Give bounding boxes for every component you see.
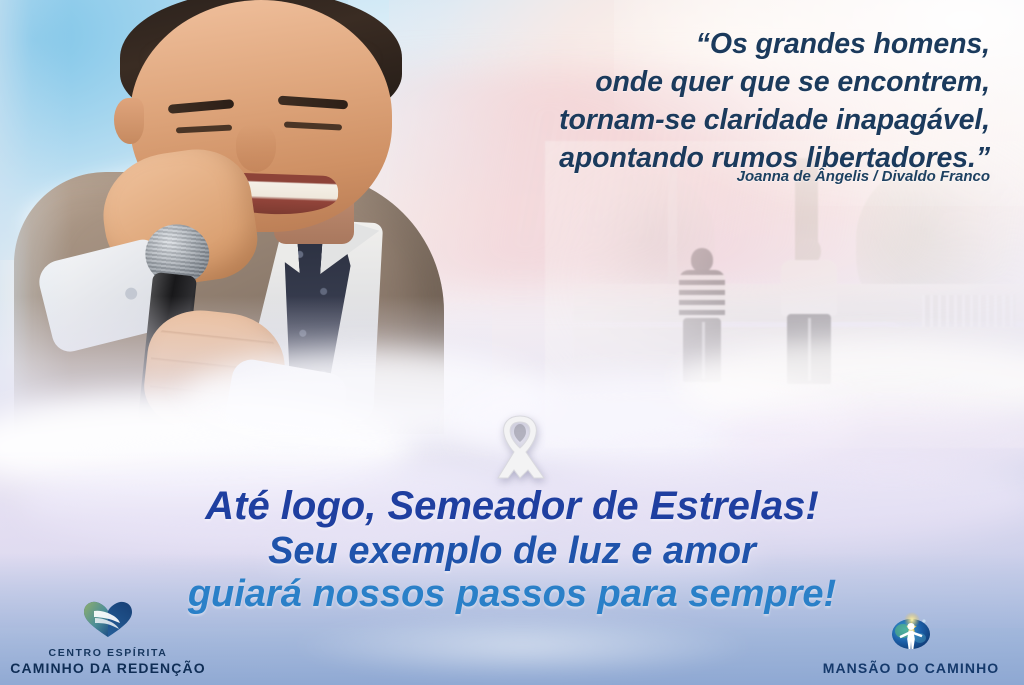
globe-figure-logo-icon	[806, 610, 1016, 657]
white-awareness-ribbon-icon	[484, 408, 556, 486]
portrait-ear	[114, 98, 144, 144]
logo-centro-espirita-caminho-da-redencao: CENTRO ESPÍRITA CAMINHO DA REDENÇÃO	[8, 599, 208, 677]
quote-attribution: Joanna de Ângelis / Divaldo Franco	[737, 168, 990, 185]
farewell-message: Até logo, Semeador de Estrelas! Seu exem…	[0, 486, 1024, 615]
background-photo-fade	[545, 141, 1024, 448]
logo-left-line-1: CENTRO ESPÍRITA	[8, 647, 208, 660]
quote-block: “Os grandes homens, onde quer que se enc…	[350, 26, 990, 178]
quote-line-1: “Os grandes homens,	[350, 26, 990, 64]
portrait-bottom-fade	[0, 296, 492, 456]
quote-line-3: tornam-se claridade inapagável,	[350, 102, 990, 140]
heart-hands-logo-icon	[8, 599, 208, 644]
logo-mansao-do-caminho: MANSÃO DO CAMINHO	[806, 610, 1016, 677]
background-photo-two-men-walking	[573, 158, 1024, 432]
memorial-poster: “Os grandes homens, onde quer que se enc…	[0, 0, 1024, 685]
portrait-nose	[236, 124, 276, 172]
quote-line-2: onde quer que se encontrem,	[350, 64, 990, 102]
farewell-line-2: Seu exemplo de luz e amor	[0, 532, 1024, 572]
logo-left-line-2: CAMINHO DA REDENÇÃO	[8, 660, 208, 677]
farewell-line-1: Até logo, Semeador de Estrelas!	[0, 486, 1024, 528]
logo-right-line-1: MANSÃO DO CAMINHO	[806, 660, 1016, 677]
